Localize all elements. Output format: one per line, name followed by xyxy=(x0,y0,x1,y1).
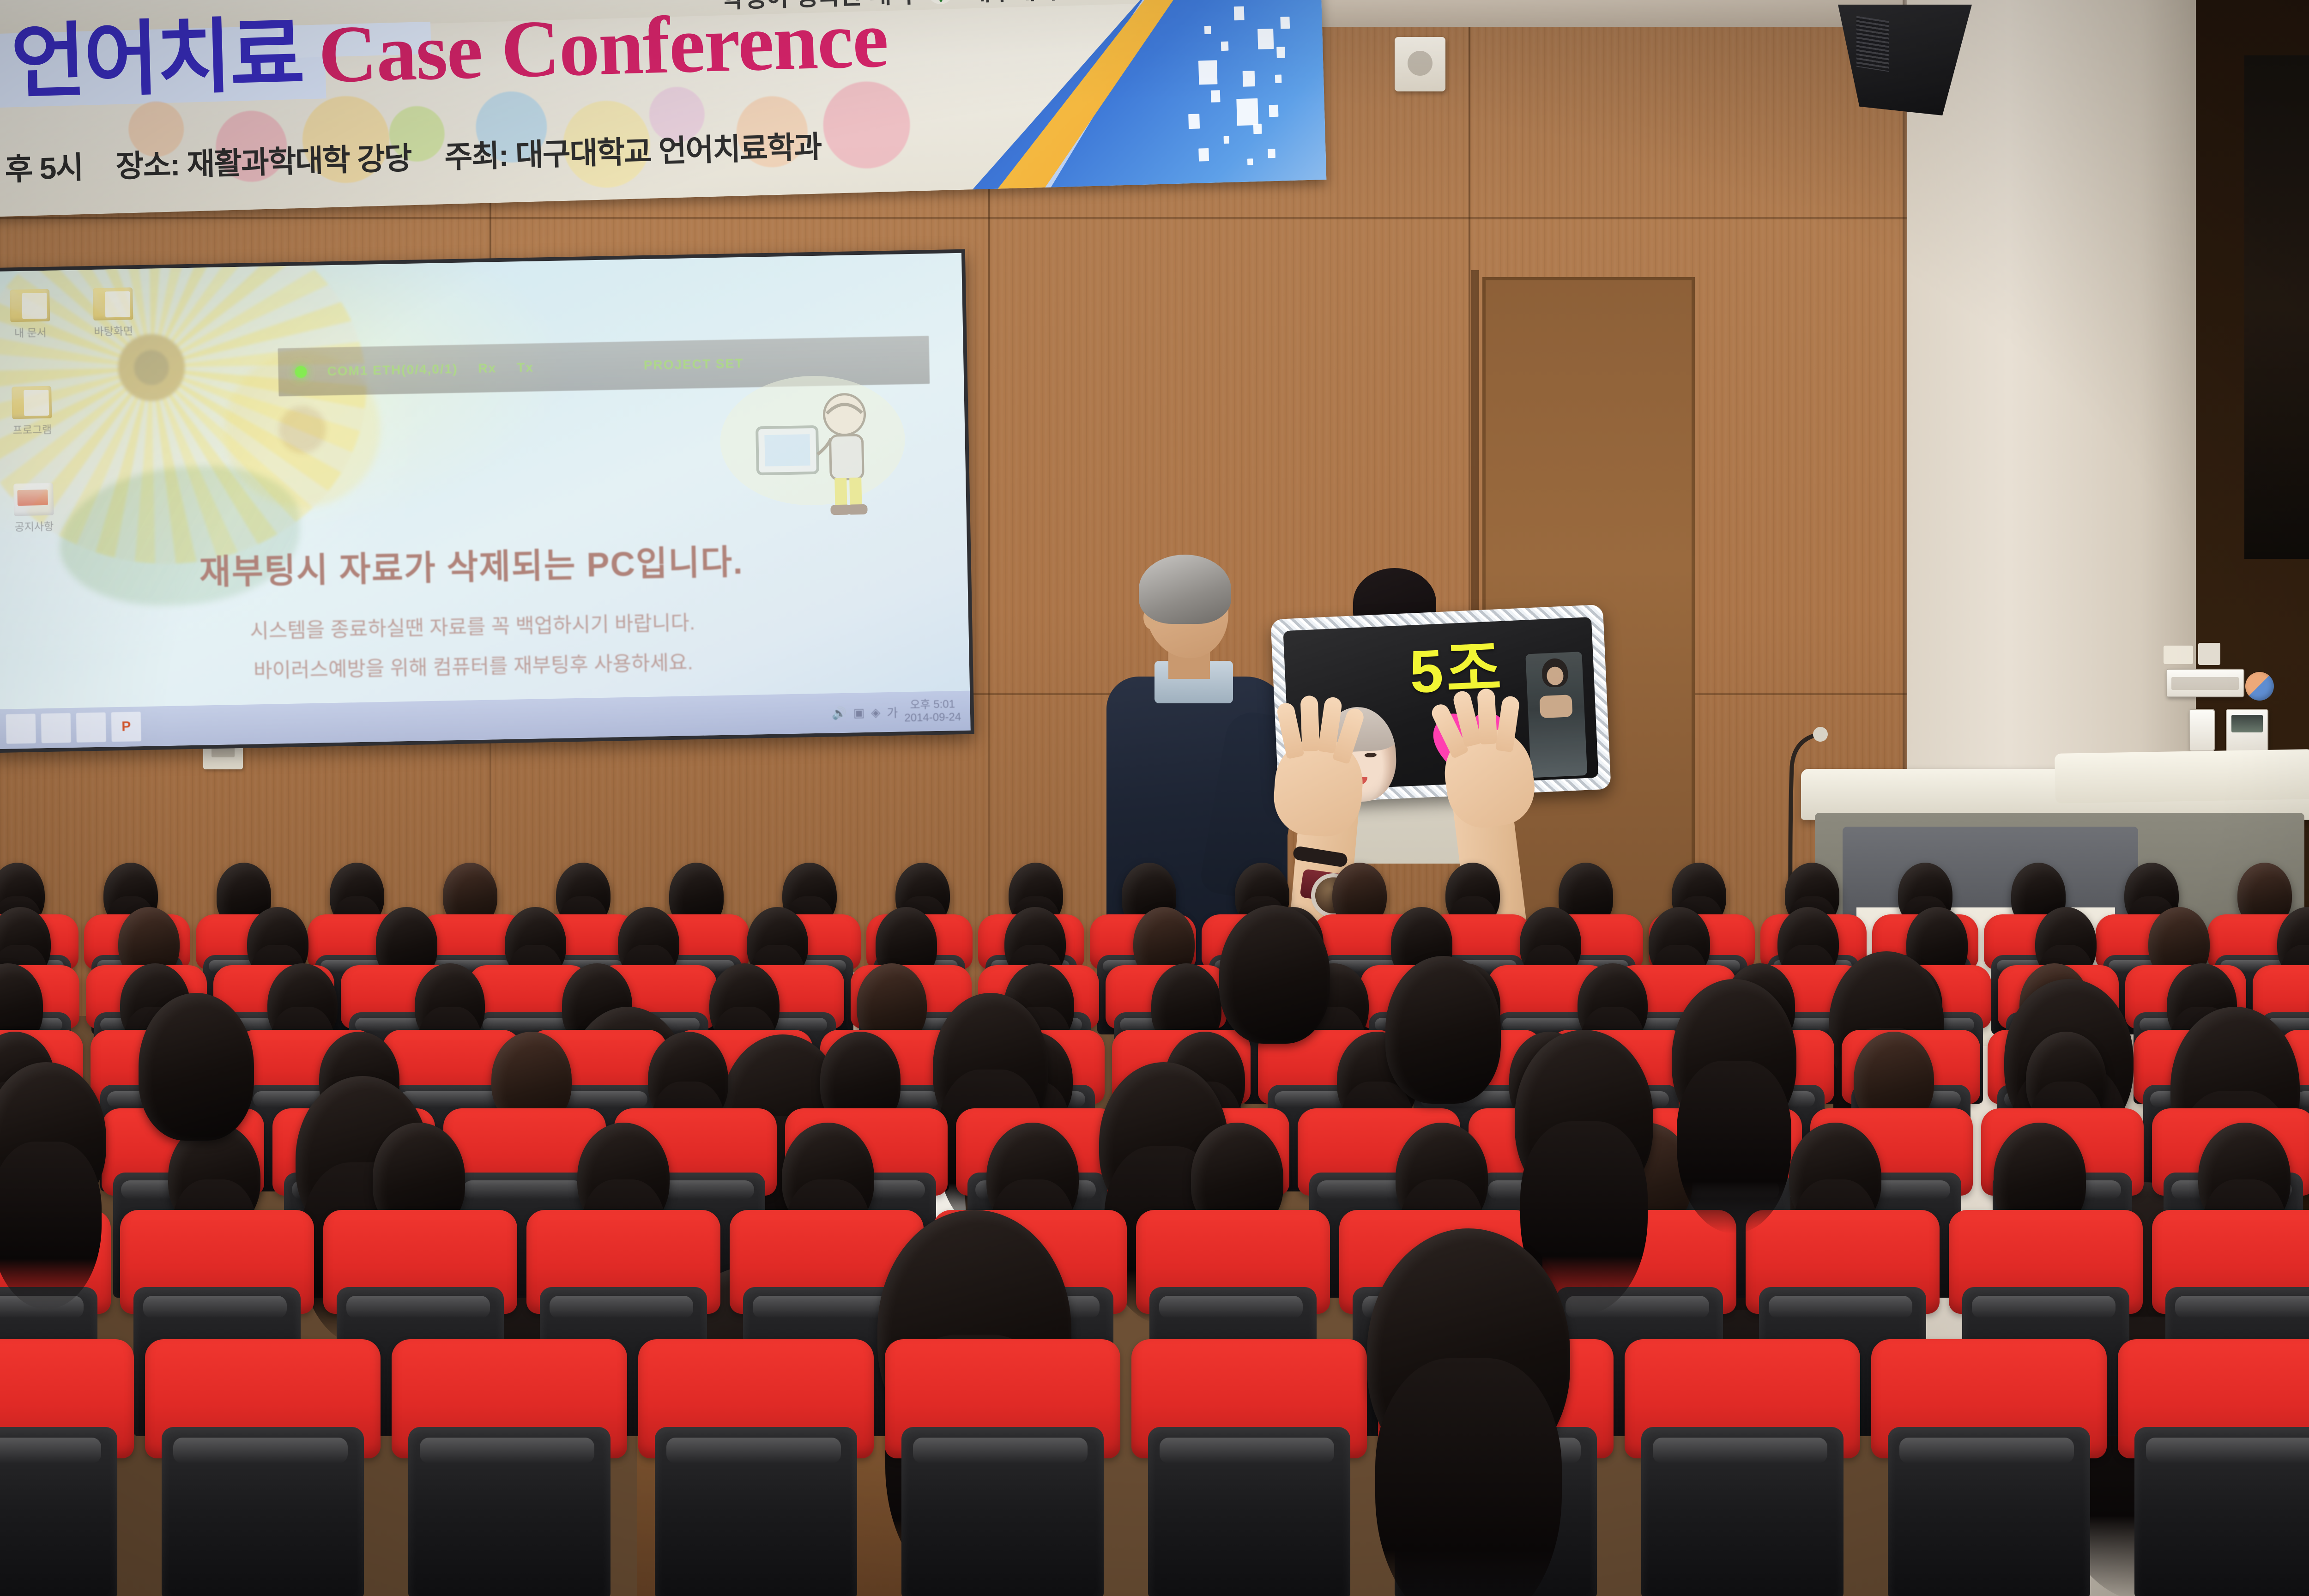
light-switch-icon[interactable] xyxy=(2189,709,2215,751)
seat-gloss xyxy=(913,1438,1087,1463)
auditorium-seat[interactable] xyxy=(638,1339,874,1596)
document-icon xyxy=(13,483,54,516)
projection-screen-frame: 내 문서 바탕화면 프로그램 공지사항 COM1 ETH(0/4,0/1) Rx… xyxy=(0,249,974,753)
shield-icon[interactable]: ◈ xyxy=(871,705,881,719)
media-player-icon[interactable] xyxy=(76,713,106,743)
seat-gloss xyxy=(1160,1438,1334,1463)
seat-gloss xyxy=(463,1180,583,1199)
wall-plate xyxy=(2164,646,2193,664)
auditorium-scene: 학생이 행복한 대학 대구대학교 언어치료 Case Conference 후 … xyxy=(0,0,2309,1596)
diamond-leaf-logo-icon xyxy=(925,0,956,7)
person-at-computer-illustration-icon xyxy=(705,369,920,526)
desktop-notice-message: 재부팅시 자료가 삭제되는 PC입니다. 시스템을 종료하실땐 자료를 꼭 백업… xyxy=(79,532,866,687)
green-status-led-icon xyxy=(295,366,307,378)
audience-head xyxy=(139,993,254,1141)
volume-icon[interactable]: 🔊 xyxy=(832,706,847,720)
show-desktop-icon[interactable] xyxy=(6,713,36,744)
banner-title-korean: 언어치료 xyxy=(10,14,304,104)
speaker-grill xyxy=(1856,16,1889,72)
seat-gloss xyxy=(550,1296,693,1318)
seat-gloss xyxy=(0,1438,101,1463)
auditorium-seat[interactable] xyxy=(1871,1339,2107,1596)
network-icon[interactable]: ▣ xyxy=(853,706,864,720)
banner-place: 장소: 재활과학대학 강당 xyxy=(115,133,411,186)
toolbar-left-label: COM1 ETH(0/4,0/1) xyxy=(327,362,458,379)
desktop-icon-label: 바탕화면 xyxy=(79,324,149,339)
folder-icon xyxy=(12,386,52,419)
explorer-icon[interactable] xyxy=(41,713,71,743)
auditorium-seat[interactable] xyxy=(2118,1339,2309,1596)
toolbar-project-set-label: PROJECT SET xyxy=(644,356,744,373)
seat-gloss xyxy=(2175,1296,2309,1318)
auditorium-seat[interactable] xyxy=(392,1339,627,1596)
banner-sparkle-squares xyxy=(1080,0,1326,186)
auditorium-seat[interactable] xyxy=(1131,1339,1367,1596)
audience-head xyxy=(1515,1030,1653,1205)
event-banner: 학생이 행복한 대학 대구대학교 언어치료 Case Conference 후 … xyxy=(0,0,1326,217)
member-full-body-photo xyxy=(1525,652,1587,778)
auditorium-seat[interactable] xyxy=(885,1339,1120,1596)
desktop-icon-label: 내 문서 xyxy=(0,326,65,340)
banner-time: 후 5시 xyxy=(4,143,83,189)
seat-gloss xyxy=(346,1296,490,1318)
seat-gloss xyxy=(753,1296,896,1318)
auditorium-seat[interactable] xyxy=(0,1339,134,1596)
toolbar-rx-label: Rx xyxy=(478,361,496,376)
notice-line-2: 시스템을 종료하실땐 자료를 꼭 백업하시기 바랍니다. xyxy=(80,603,865,647)
seat-gloss xyxy=(1899,1438,2073,1463)
seat-gloss xyxy=(399,1091,502,1107)
decorative-ball-icon xyxy=(2245,672,2274,701)
auditorium-seat[interactable] xyxy=(145,1339,381,1596)
raised-hand-left xyxy=(1271,736,1366,839)
seat-gloss xyxy=(1972,1296,2116,1318)
smoke-detector-icon xyxy=(1395,37,1445,91)
desktop-icon-label: 공지사항 xyxy=(0,520,69,534)
seat-gloss xyxy=(173,1438,347,1463)
ime-icon[interactable]: 가 xyxy=(887,703,898,720)
desktop-icon[interactable]: 바탕화면 xyxy=(78,287,148,339)
wall-seam-horizontal xyxy=(0,217,1907,219)
seat-gloss xyxy=(666,1438,840,1463)
toolbar-tx-label: Tx xyxy=(517,360,534,375)
notice-line-3: 바이러스예방을 위해 컴퓨터를 재부팅후 사용하세요. xyxy=(80,642,866,687)
wall-plate xyxy=(2198,643,2220,665)
seat-gloss xyxy=(2146,1438,2309,1463)
presenter-hair xyxy=(1139,555,1231,624)
desktop-icon[interactable]: 공지사항 xyxy=(0,483,69,534)
banner-title-english: Case Conference xyxy=(317,0,889,96)
seat-gloss xyxy=(420,1438,594,1463)
seat-gloss xyxy=(143,1296,287,1318)
folder-icon xyxy=(10,289,50,322)
audience-head xyxy=(1367,1228,1570,1478)
clock-time: 오후 5:01 xyxy=(904,698,961,712)
audience-head xyxy=(1385,956,1501,1104)
clock-date: 2014-09-24 xyxy=(904,711,961,725)
seat-gloss xyxy=(1653,1438,1827,1463)
powerpoint-icon[interactable]: P xyxy=(111,712,141,742)
auditorium-seat[interactable] xyxy=(1625,1339,1860,1596)
wall-control-panel[interactable] xyxy=(2166,669,2244,697)
seat-gloss xyxy=(1159,1296,1303,1318)
desktop-icon[interactable]: 내 문서 xyxy=(0,289,65,340)
projection-screen: 내 문서 바탕화면 프로그램 공지사항 COM1 ETH(0/4,0/1) Rx… xyxy=(0,253,971,749)
folder-icon xyxy=(93,287,133,320)
desktop-icon-label: 프로그램 xyxy=(0,423,67,437)
desktop-icon[interactable]: 프로그램 xyxy=(0,386,67,437)
audience-head xyxy=(1219,905,1330,1044)
wall-speaker-icon xyxy=(2244,55,2309,559)
seat-gloss xyxy=(1769,1296,1912,1318)
system-tray[interactable]: 🔊 ▣ ◈ 가 오후 5:01 2014-09-24 xyxy=(832,698,961,726)
taskbar-clock[interactable]: 오후 5:01 2014-09-24 xyxy=(904,698,961,725)
audience-head xyxy=(1672,979,1796,1136)
thermostat-display xyxy=(2231,715,2263,732)
